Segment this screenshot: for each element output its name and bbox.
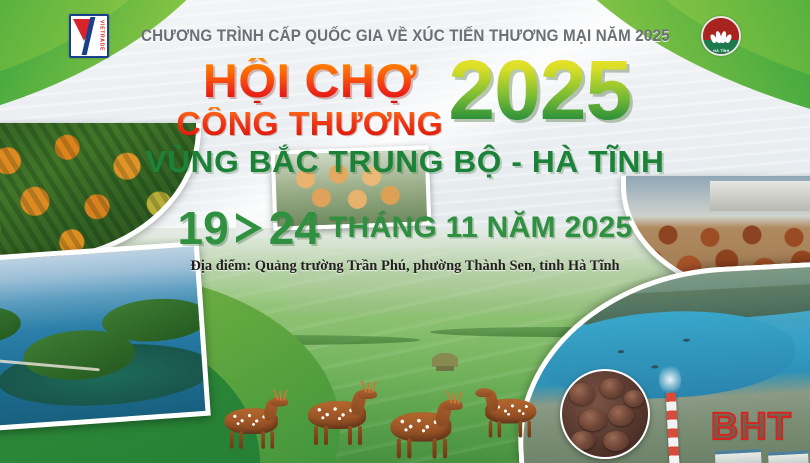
venue-text: Địa điểm: Quảng trường Trần Phú, phường …	[0, 258, 810, 275]
photo-deer	[217, 395, 289, 448]
date-end-day: 24	[269, 205, 320, 251]
deer-leg	[443, 439, 447, 459]
emblem-caption: HÀ TĨNH	[703, 49, 739, 53]
deer-head	[476, 388, 493, 397]
background-hut	[432, 353, 458, 367]
headline-congthuong: CÔNG THƯƠNG	[176, 107, 443, 140]
headline-hoicho: HỘI CHỢ	[202, 58, 416, 103]
header-bar: VIETRADE CHƯƠNG TRÌNH CẤP QUỐC GIA VỀ XÚ…	[0, 12, 810, 60]
deer-leg	[239, 431, 243, 448]
photo-deer	[300, 387, 378, 445]
port-building	[715, 449, 762, 463]
deer-leg	[407, 439, 411, 459]
arrow-right-icon	[236, 213, 262, 243]
headline-block: HỘI CHỢ CÔNG THƯƠNG 2025 VÙNG BẮC TRUNG …	[0, 56, 810, 177]
program-title: CHƯƠNG TRÌNH CẤP QUỐC GIA VỀ XÚC TIẾN TH…	[141, 27, 670, 46]
port-building	[768, 451, 809, 463]
deer-leg	[519, 421, 523, 438]
deer-leg	[348, 426, 352, 445]
deer-leg	[261, 431, 265, 448]
watermark-bht: BHT	[711, 406, 792, 449]
deer-antler	[447, 389, 464, 404]
photo-deer	[382, 398, 464, 459]
deer-leg	[498, 421, 502, 438]
deer-leg	[358, 426, 362, 445]
date-start-day: 19	[178, 205, 229, 251]
vietrade-logo: VIETRADE	[69, 14, 109, 58]
deer-leg	[314, 426, 318, 445]
headline-left-column: HỘI CHỢ CÔNG THƯƠNG	[179, 56, 441, 140]
deer-antler	[274, 388, 289, 401]
deer-leg	[397, 439, 401, 459]
lake-island	[0, 305, 22, 347]
emblem-lotus-icon	[711, 29, 731, 43]
port-chimney	[666, 392, 680, 463]
ha-tinh-province-emblem: HÀ TĨNH	[701, 16, 741, 56]
deer-leg	[432, 439, 436, 459]
headline-primary-row: HỘI CHỢ CÔNG THƯƠNG 2025	[0, 56, 810, 144]
headline-region: VÙNG BẮC TRUNG BỘ - HÀ TĨNH	[0, 146, 810, 177]
deer-leg	[489, 421, 493, 438]
date-row: 19 24 THÁNG 11 NĂM 2025	[0, 205, 810, 251]
headline-year: 2025	[448, 52, 631, 129]
vietrade-wordmark: VIETRADE	[97, 18, 107, 54]
deer-antler	[362, 379, 378, 393]
date-month-year: THÁNG 11 NĂM 2025	[329, 213, 633, 243]
photo-deer	[475, 386, 544, 437]
deer-leg	[270, 431, 274, 448]
deer-leg	[230, 431, 234, 448]
photo-antler-slices	[560, 369, 650, 459]
fair-promotional-banner: VIETRADE CHƯƠNG TRÌNH CẤP QUỐC GIA VỀ XÚ…	[0, 0, 810, 463]
deer-leg	[324, 426, 328, 445]
port-boat	[683, 338, 690, 341]
deer-leg	[527, 421, 531, 438]
